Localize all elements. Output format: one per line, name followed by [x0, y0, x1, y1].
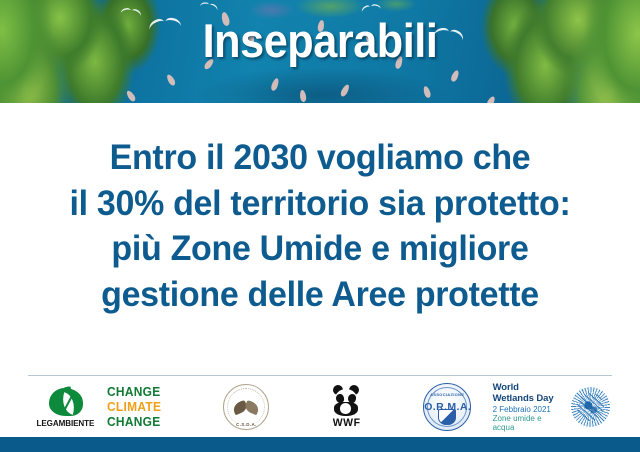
logo-wwf: WWF — [307, 385, 386, 429]
wwd-subtitle: Zone umide e acqua — [493, 414, 565, 433]
bird-icon — [120, 7, 142, 17]
flying-swift-bird-circle-icon: C.S.D.A. — [223, 384, 269, 430]
logo-bar: LEGAMBIENTE CHANGE CLIMATE CHANGE C.S.D.… — [0, 381, 640, 433]
poster: Inseparabili Entro il 2030 vogliamo che … — [0, 0, 640, 452]
wwd-title-line-2: Wetlands Day — [493, 393, 565, 404]
legambiente-wordmark: LEGAMBIENTE — [37, 418, 95, 428]
headline-line-3: più Zone Umide e migliore — [27, 226, 613, 272]
wwd-title-line-1: World — [493, 382, 565, 393]
header-banner: Inseparabili — [0, 0, 640, 103]
headline: Entro il 2030 vogliamo che il 30% del te… — [10, 103, 631, 317]
logo-cada: C.S.D.A. — [206, 384, 287, 430]
orma-shield-icon — [438, 409, 456, 425]
cada-label: C.S.D.A. — [224, 422, 268, 427]
wetlands-day-globe-emblem-icon — [571, 387, 610, 427]
wwd-date: 2 Febbraio 2021 — [493, 405, 565, 414]
logo-world-wetlands-day: World Wetlands Day 2 Febbraio 2021 Zone … — [493, 382, 610, 433]
logo-orma: ASSOCIAZIONE O.R.M.A. — [402, 383, 493, 431]
panda-icon — [331, 385, 361, 416]
wwf-wordmark: WWF — [332, 417, 360, 429]
headline-line-4: gestione delle Aree protette — [27, 272, 613, 318]
logo-change-climate-change: CHANGE CLIMATE CHANGE — [107, 385, 192, 429]
headline-line-1: Entro il 2030 vogliamo che — [27, 135, 613, 181]
ccc-line-1: CHANGE — [107, 385, 160, 399]
banner-title: Inseparabili — [26, 17, 615, 64]
divider — [28, 375, 612, 376]
orma-circle-icon: ASSOCIAZIONE O.R.M.A. — [423, 383, 471, 431]
ccc-line-3: CHANGE — [107, 415, 160, 429]
swan-leaf-icon — [49, 386, 83, 416]
headline-line-2: il 30% del territorio sia protetto: — [27, 181, 613, 227]
bottom-bar — [0, 437, 640, 452]
logo-legambiente: LEGAMBIENTE — [30, 386, 101, 428]
wwd-text-block: World Wetlands Day 2 Febbraio 2021 Zone … — [493, 382, 565, 433]
orma-top-text: ASSOCIAZIONE — [424, 392, 470, 397]
ccc-line-2: CLIMATE — [107, 400, 161, 414]
